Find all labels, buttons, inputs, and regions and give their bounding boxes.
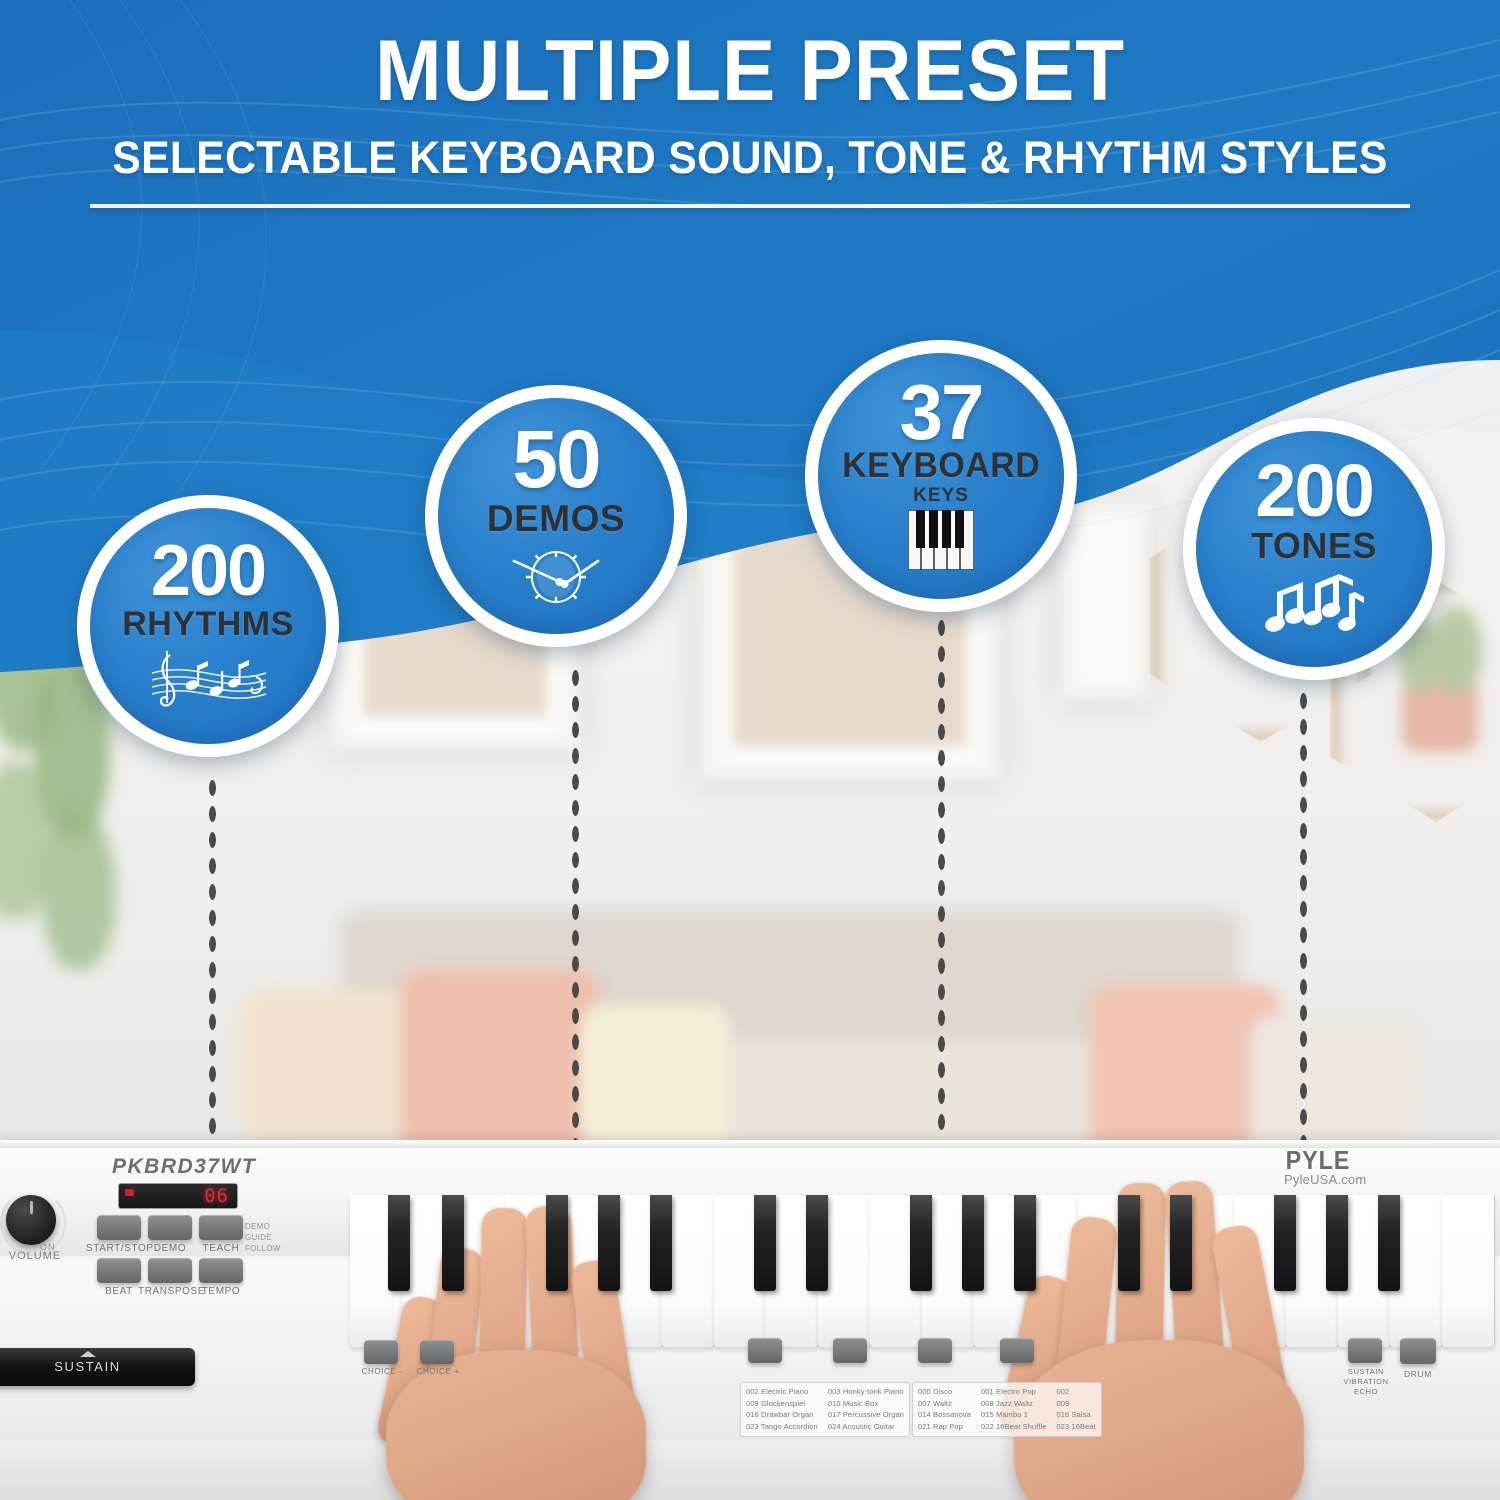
rhythm-item: 009 [1056,1398,1095,1410]
rhythm-list-column: 000 Disco 007 Waltz 014 Bossanova 021 Ra… [918,1386,971,1433]
button-label-beat: BEAT [96,1286,142,1297]
mode-marker-follow: FOLLOW [245,1244,281,1255]
page-subtitle: SELECTABLE KEYBOARD SOUND, TONE & RHYTHM… [38,135,1463,180]
button-label-start-stop: START/STOP [86,1243,152,1254]
pillow [240,990,420,1140]
led-indicator-dot [125,1189,134,1196]
mode-markers: DEMO GUIDE FOLLOW [245,1222,281,1254]
sustain-bar[interactable]: SUSTAIN [0,1348,195,1386]
keyboard-top-edge [0,1140,1500,1148]
rhythm-item: 021 Rap Pop [918,1421,971,1433]
badge-label: KEYBOARD [842,448,1040,483]
black-key[interactable] [1014,1195,1036,1291]
title-divider-rule [90,204,1410,208]
plant-leaf [42,810,116,970]
mode-marker-demo: DEMO [245,1222,281,1233]
button-rhythm-1[interactable] [918,1338,952,1363]
model-number-label: PKBRD37WT [112,1155,256,1179]
volume-knob[interactable] [6,1195,56,1245]
rhythm-list-column: 002 009 016 Salsa 023 16Beat [1056,1386,1095,1433]
badge-keyboard-keys[interactable]: 37 KEYBOARD KEYS [805,340,1077,612]
white-key[interactable] [1442,1195,1495,1347]
black-key[interactable] [388,1195,410,1291]
connector-line-rhythms [207,775,218,1145]
button-label-teach: TEACH [195,1243,247,1254]
rhythm-item: 007 Waltz [918,1398,971,1410]
connector-line-keys [936,615,947,1145]
badge-inner: 200 RHYTHMS [90,508,326,744]
product-feature-graphic: MULTIPLE PRESET SELECTABLE KEYBOARD SOUN… [0,0,1500,1500]
rhythm-item: 000 Disco [918,1386,971,1398]
black-key[interactable] [910,1195,932,1291]
sustain-triangle-icon [80,1351,96,1357]
black-key[interactable] [1118,1195,1140,1291]
rhythm-item: 015 Mambo 1 [981,1409,1046,1421]
pillow [580,1005,730,1150]
badge-sublabel: KEYS [913,486,969,505]
black-key[interactable] [754,1195,776,1291]
button-sustain-vibration-echo[interactable] [1348,1338,1382,1363]
black-key[interactable] [1274,1195,1296,1291]
piano-keys-icon [908,510,974,575]
button-demo[interactable] [148,1215,192,1240]
black-key[interactable] [1170,1195,1192,1291]
button-drum[interactable] [1400,1338,1436,1364]
tone-item: 010 Music Box [828,1398,904,1410]
led-display: 06 [118,1183,238,1209]
tone-item: 023 Tango Accordion [746,1421,818,1433]
connector-line-demos [570,665,581,1145]
black-key[interactable] [1326,1195,1348,1291]
button-tone-2[interactable] [833,1338,867,1363]
rhythm-item: 008 Jazz Waltz [981,1398,1046,1410]
button-start-stop[interactable] [97,1215,141,1240]
tone-item: 017 Percussive Organ [828,1409,904,1421]
tone-item: 009 Glockenspiel [746,1398,818,1410]
tone-item: 024 Acoustic Guitar [828,1421,904,1433]
badge-label: DEMOS [487,500,625,537]
button-teach[interactable] [199,1215,243,1240]
rhythm-list-panel: 000 Disco 007 Waltz 014 Bossanova 021 Ra… [912,1382,1102,1437]
rhythm-list-column: 001 Electro Pop 008 Jazz Waltz 015 Mambo… [981,1386,1046,1433]
music-notes-icon [1263,570,1365,641]
button-label-choice-minus: CHOICE - [356,1367,408,1376]
tone-list-column: 003 Honky-tonk Piano 010 Music Box 017 P… [828,1386,904,1433]
rhythm-item: 016 Salsa [1056,1409,1095,1421]
button-label-choice-plus: CHOICE + [412,1367,464,1376]
sustain-bar-label: SUSTAIN [0,1359,195,1374]
led-display-value: 06 [204,1185,229,1207]
tone-item: 002 Electric Piano [746,1386,818,1398]
badge-inner: 37 KEYBOARD KEYS [818,353,1064,599]
connector-line-tones [1298,688,1309,1148]
black-key[interactable] [598,1195,620,1291]
black-key[interactable] [546,1195,568,1291]
badge-number: 37 [900,377,983,449]
badge-rhythms[interactable]: 200 RHYTHMS [77,495,339,757]
rhythm-item: 023 16Beat [1056,1421,1095,1433]
knob-pointer [30,1201,33,1214]
black-key[interactable] [806,1195,828,1291]
button-tone-1[interactable] [748,1338,782,1363]
rhythm-item: 002 [1056,1386,1095,1398]
tone-list-panel: 002 Electric Piano 009 Glockenspiel 016 … [740,1382,910,1437]
badge-number: 50 [512,422,599,497]
tone-item: 016 Drawbar Organ [746,1409,818,1421]
mode-marker-guide: GUIDE [245,1233,281,1244]
page-title: MULTIPLE PRESET [53,28,1448,114]
badge-demos[interactable]: 50 DEMOS [425,385,687,647]
tone-list-column: 002 Electric Piano 009 Glockenspiel 016 … [746,1386,818,1433]
black-key[interactable] [442,1195,464,1291]
button-choice-minus[interactable] [364,1340,398,1364]
snare-drum-icon [508,543,604,610]
rhythm-item: 014 Bossanova [918,1409,971,1421]
rhythm-item: 022 16Beat Shuffle [981,1421,1046,1433]
button-beat[interactable] [97,1258,141,1283]
badge-number: 200 [1255,457,1372,525]
black-key[interactable] [1378,1195,1400,1291]
button-label-transpose: TRANSPOSE [138,1286,204,1297]
button-label-drum: DRUM [1392,1369,1444,1379]
volume-label: VOLUME [0,1250,70,1262]
badge-label: RHYTHMS [122,607,294,641]
button-rhythm-2[interactable] [1000,1338,1034,1363]
button-tempo[interactable] [199,1258,243,1283]
badge-number: 200 [151,538,265,604]
music-staff-icon [146,647,270,714]
black-key[interactable] [650,1195,672,1291]
badge-inner: 50 DEMOS [438,398,674,634]
badge-label: TONES [1251,528,1377,564]
button-label-demo: DEMO [144,1243,196,1254]
rhythm-item: 001 Electro Pop [981,1386,1046,1398]
tone-item: 003 Honky-tonk Piano [828,1386,904,1398]
black-key[interactable] [962,1195,984,1291]
button-transpose[interactable] [148,1258,192,1283]
brand-url: PyleUSA.com [1284,1172,1366,1187]
badge-inner: 200 TONES [1196,431,1432,667]
power-on-label: ON [40,1242,56,1252]
button-label-tempo: TEMPO [196,1286,246,1297]
button-choice-plus[interactable] [420,1340,454,1364]
badge-tones[interactable]: 200 TONES [1183,418,1445,680]
